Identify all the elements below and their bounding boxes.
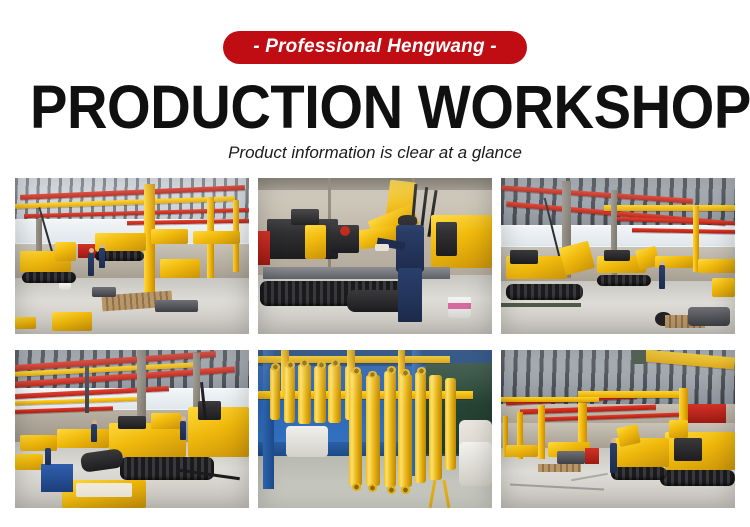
gallery-photo-2 bbox=[258, 178, 492, 334]
gallery-photo-5 bbox=[258, 350, 492, 508]
page-title: PRODUCTION WORKSHOP bbox=[30, 76, 720, 138]
gallery-photo-1 bbox=[15, 178, 249, 334]
rig-assembly-closeup-scene bbox=[258, 178, 492, 334]
gallery-photo-6 bbox=[501, 350, 735, 508]
photo-gallery bbox=[15, 178, 735, 508]
page-subtitle: Product information is clear at a glance bbox=[0, 143, 750, 163]
brand-badge: - Professional Hengwang - bbox=[223, 31, 527, 64]
workshop-overview-scene bbox=[15, 178, 249, 334]
workshop-bay-scene bbox=[501, 178, 735, 334]
badge-row: - Professional Hengwang - bbox=[0, 31, 750, 64]
production-workshop-banner: - Professional Hengwang - PRODUCTION WOR… bbox=[0, 0, 750, 527]
gallery-photo-4 bbox=[15, 350, 249, 508]
assembly-line-scene bbox=[15, 350, 249, 508]
gallery-photo-3 bbox=[501, 178, 735, 334]
workshop-aisle-scene bbox=[501, 350, 735, 508]
hydraulic-cylinders-scene bbox=[258, 350, 492, 508]
